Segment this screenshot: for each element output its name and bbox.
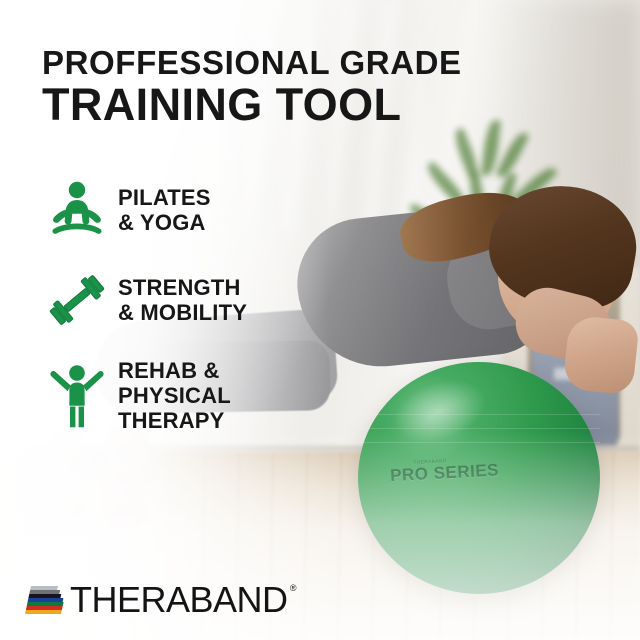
dumbbell-icon [44, 272, 110, 328]
theraband-logo: THERABAND ® [28, 582, 288, 618]
feature-label-strength-mobility: STRENGTH & MOBILITY [118, 275, 247, 325]
exercise-ball: THERABAND PRO SERIES [358, 362, 600, 594]
meditation-lotus-icon [44, 181, 110, 239]
feature-item-pilates-yoga: PILATES & YOGA [44, 178, 314, 242]
feature-label-pilates-yoga: PILATES & YOGA [118, 185, 211, 235]
feature-item-strength-mobility: STRENGTH & MOBILITY [44, 268, 314, 332]
person-arms-raised-icon [44, 363, 110, 429]
clasped-hands [562, 315, 639, 396]
brand-name: THERABAND ® [70, 582, 288, 618]
headline-line-2: TRAINING TOOL [42, 82, 462, 128]
ball-brand-logo: THERABAND PRO SERIES [389, 455, 510, 486]
feature-list: PILATES & YOGA STRENGTH & MOBILITY [44, 178, 314, 459]
theraband-stripes-icon [25, 585, 67, 615]
registered-trademark-symbol: ® [290, 584, 297, 593]
feature-label-rehab-therapy: REHAB & PHYSICAL THERAPY [118, 358, 231, 433]
advertisement-poster: THERABAND PRO SERIES PROFFESSIONAL GRADE… [0, 0, 640, 640]
headline-line-1: PROFFESSIONAL GRADE [42, 46, 462, 80]
ball-brand-text: PRO SERIES [390, 460, 500, 485]
feature-item-rehab-therapy: REHAB & PHYSICAL THERAPY [44, 358, 314, 433]
headline: PROFFESSIONAL GRADE TRAINING TOOL [42, 46, 462, 128]
brand-name-text: THERABAND [70, 579, 288, 620]
stripe-gold [25, 610, 62, 614]
